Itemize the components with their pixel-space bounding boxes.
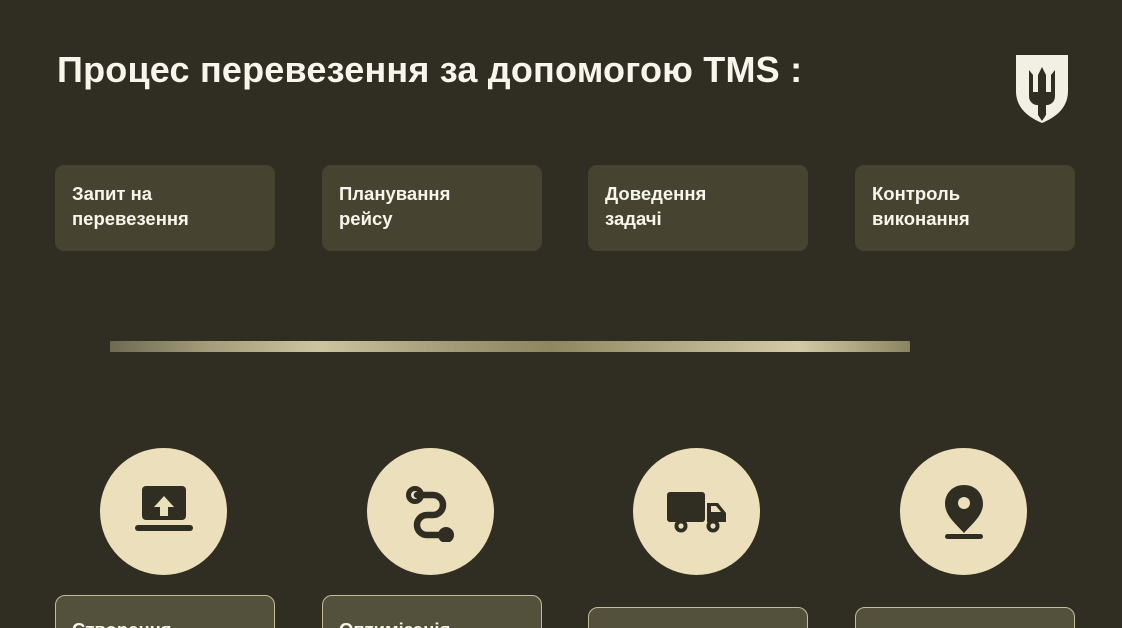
laptop-upload-icon: [133, 484, 195, 540]
step-1-icon-circle[interactable]: [100, 448, 227, 575]
step-1-bottom-card[interactable]: Створення заявки в системі: [55, 595, 275, 628]
step-3-icon-circle[interactable]: [633, 448, 760, 575]
step-2-icon-circle[interactable]: [367, 448, 494, 575]
step-3-top-card[interactable]: Доведення задачі: [588, 165, 808, 251]
step-3-bottom-card[interactable]: Інструктаж виконавців: [588, 607, 808, 628]
step-2-top-card[interactable]: Планування рейсу: [322, 165, 542, 251]
process-steps: Запит на перевезення Створення заявки в …: [55, 165, 1072, 555]
location-pin-icon: [937, 482, 991, 542]
step-2-bottom-card[interactable]: Оптимізація маршруту та ресурсів: [322, 595, 542, 628]
step-1-top-card[interactable]: Запит на перевезення: [55, 165, 275, 251]
slide-header: Процес перевезення за допомогою TMS :: [0, 0, 1122, 150]
step-1-bottom-label: Створення заявки в системі: [72, 617, 172, 628]
step-4-top-card[interactable]: Контроль виконання: [855, 165, 1075, 251]
page-title: Процес перевезення за допомогою TMS :: [57, 49, 802, 91]
step-4-bottom-card[interactable]: Моніторинг у реальному часі: [855, 607, 1075, 628]
process-step-3: Доведення задачі Інструктаж вик: [588, 165, 808, 555]
delivery-truck-icon: [665, 487, 729, 537]
process-step-2: Планування рейсу Оптимізація маршруту та…: [322, 165, 542, 555]
route-path-icon: [401, 482, 461, 542]
step-2-bottom-label: Оптимізація маршруту та ресурсів: [339, 617, 450, 628]
step-4-icon-circle[interactable]: [900, 448, 1027, 575]
process-step-4: Контроль виконання Моніторинг у реальном…: [855, 165, 1075, 555]
ukrainian-trident-shield-icon: [1014, 53, 1070, 125]
step-2-top-label: Планування рейсу: [339, 182, 526, 231]
slide-root: Процес перевезення за допомогою TMS : За…: [0, 0, 1122, 628]
step-3-top-label: Доведення задачі: [605, 182, 792, 231]
process-step-1: Запит на перевезення Створення заявки в …: [55, 165, 275, 555]
step-4-top-label: Контроль виконання: [872, 182, 1059, 231]
step-1-top-label: Запит на перевезення: [72, 182, 259, 231]
